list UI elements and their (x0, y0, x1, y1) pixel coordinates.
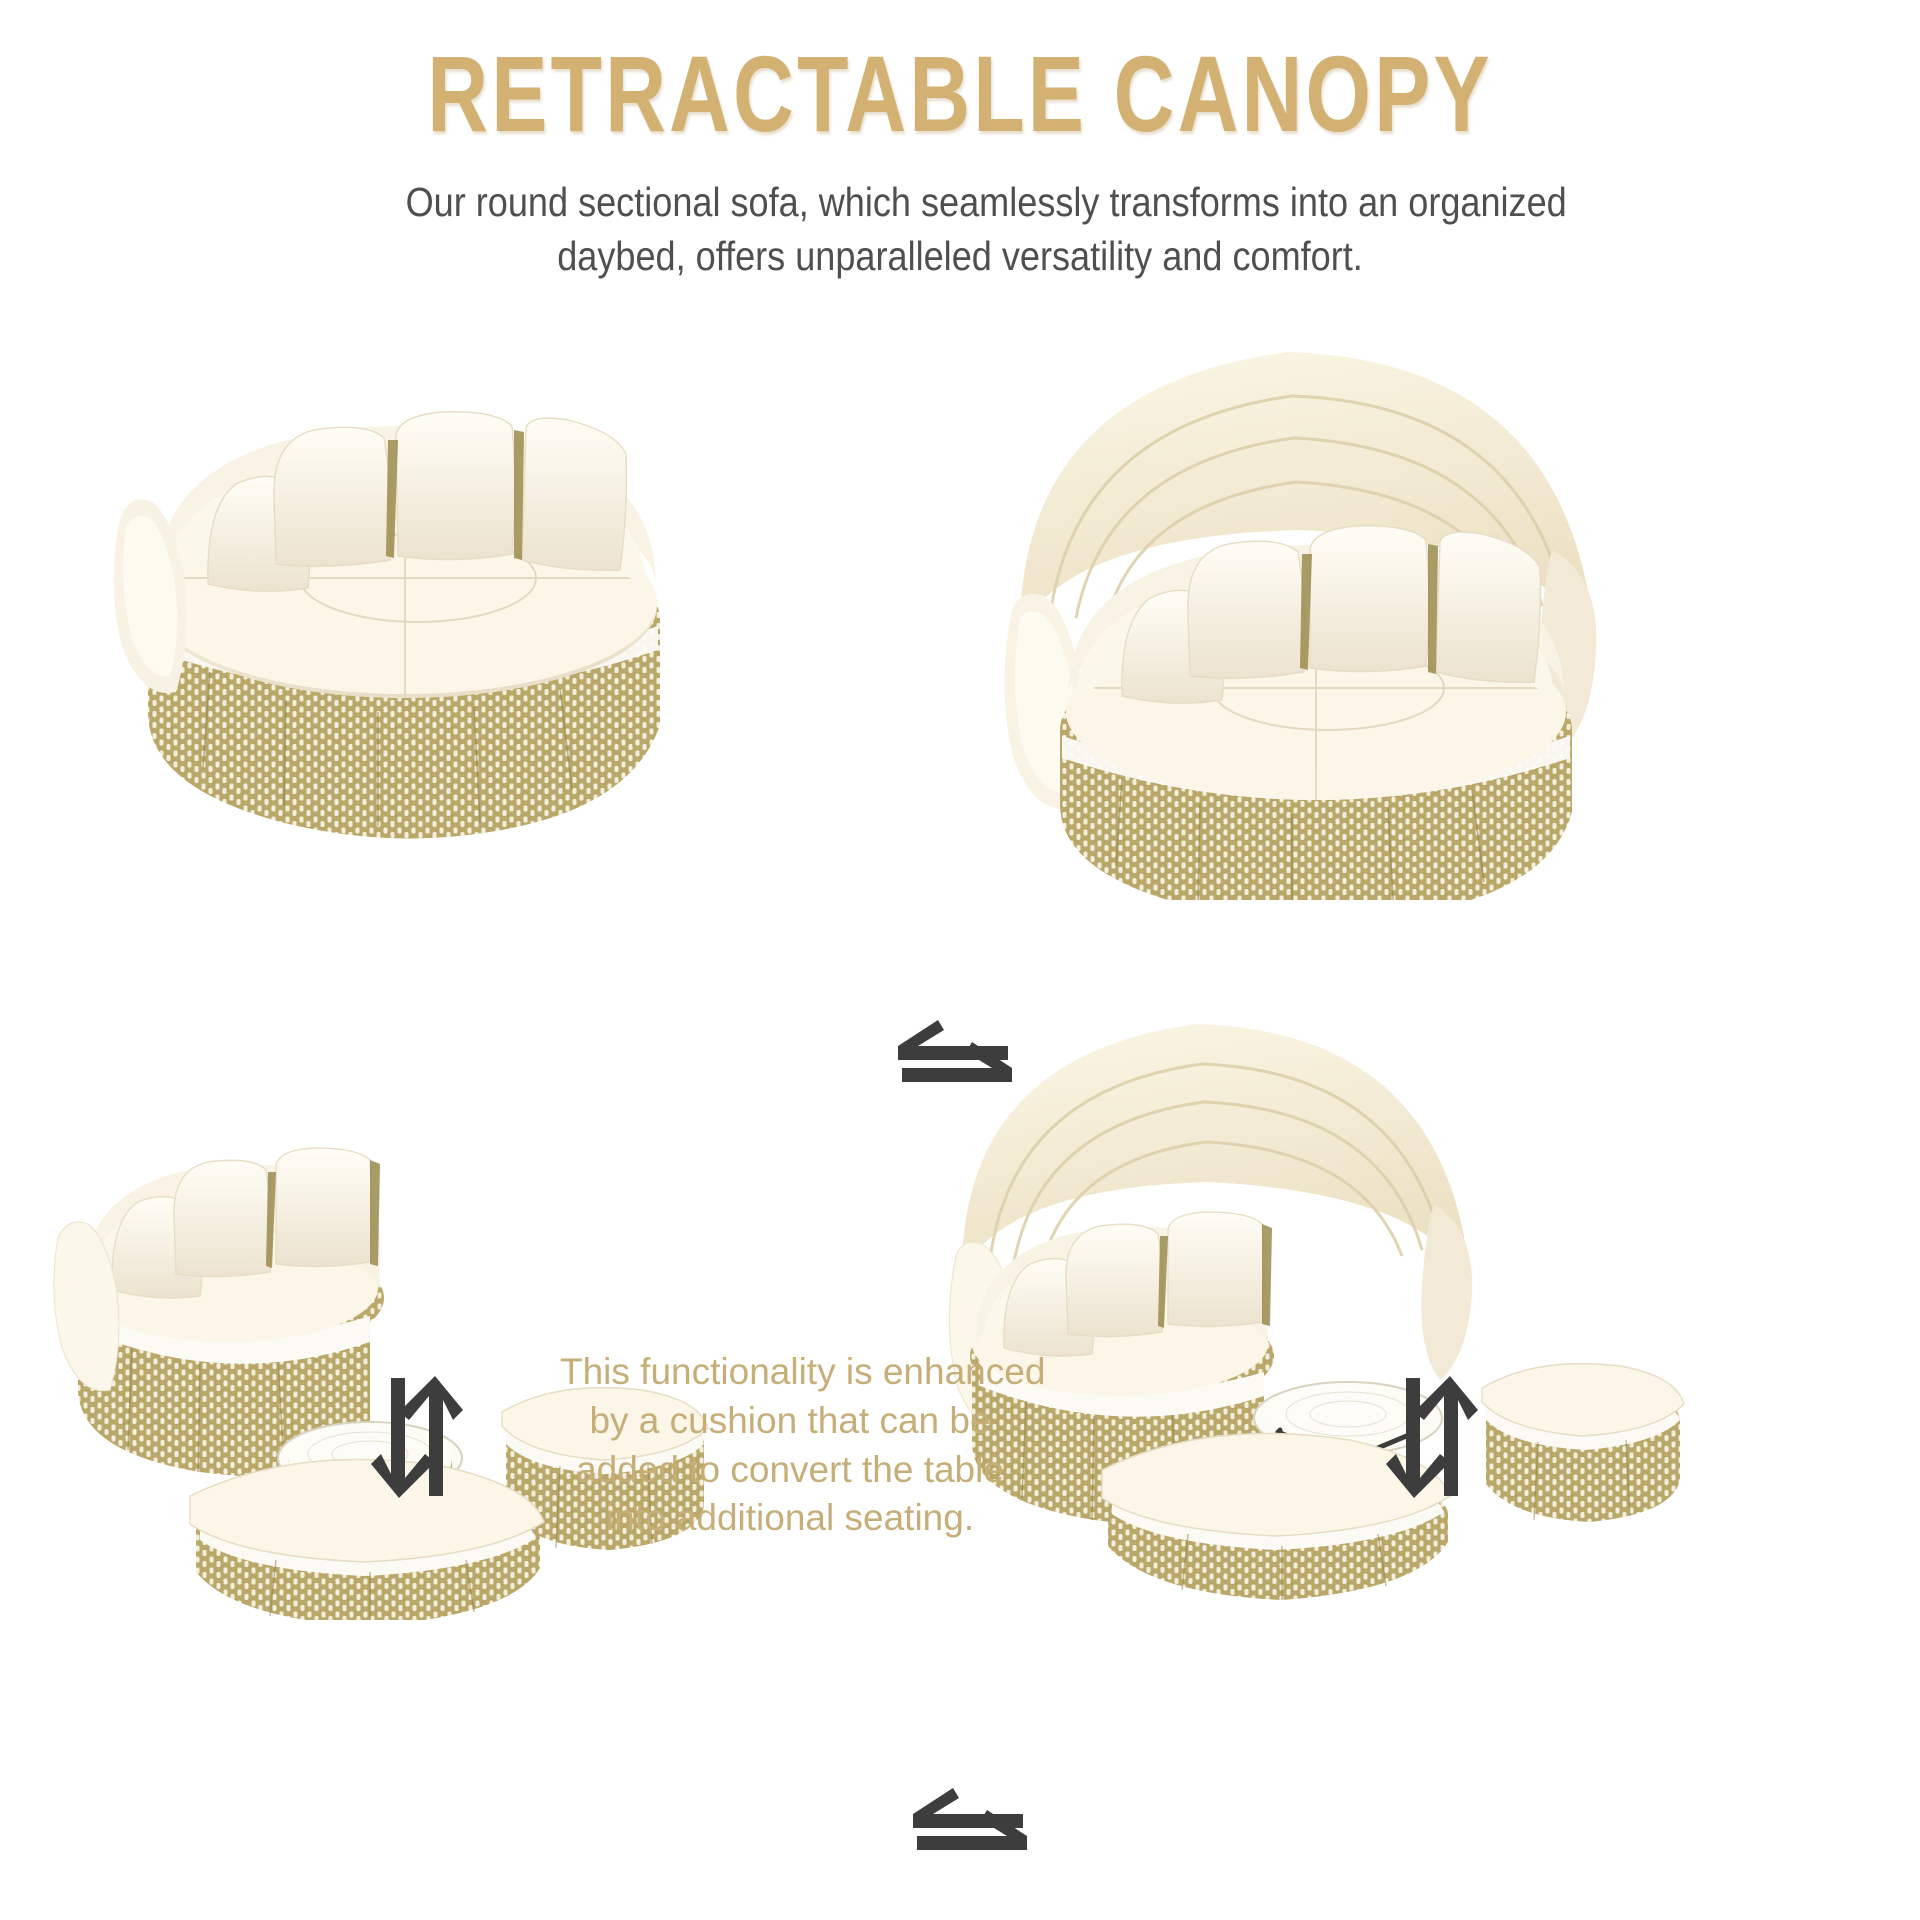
center-note-line-1: This functionality is enhanced (560, 1348, 1020, 1397)
center-note-line-4: into additional seating. (560, 1494, 1020, 1543)
swap-horizontal-icon-bottom (895, 1770, 1045, 1880)
header: RETRACTABLE CANOPY Our round sectional s… (0, 0, 1920, 283)
page-subtitle: Our round sectional sofa, which seamless… (406, 175, 1515, 283)
daybed-open-with-canopy-art (900, 300, 1680, 900)
swap-horizontal-icon-top (880, 1002, 1030, 1112)
product-image-daybed-open-with-canopy (900, 300, 1680, 900)
center-note-line-3: added to convert the table (560, 1446, 1020, 1495)
subtitle-line-2: daybed, offers unparalleled versatility … (406, 229, 1515, 283)
swap-vertical-icon-right (1370, 1362, 1480, 1512)
center-note-line-2: by a cushion that can be (560, 1397, 1020, 1446)
product-grid: This functionality is enhanced by a cush… (0, 300, 1920, 1920)
subtitle-line-1: Our round sectional sofa, which seamless… (406, 175, 1515, 229)
page-title: RETRACTABLE CANOPY (211, 36, 1709, 153)
center-note: This functionality is enhanced by a cush… (560, 1348, 1020, 1543)
swap-vertical-icon-left (355, 1362, 465, 1512)
product-image-daybed-open-no-canopy (60, 320, 760, 880)
daybed-open-no-canopy-art (60, 320, 760, 880)
